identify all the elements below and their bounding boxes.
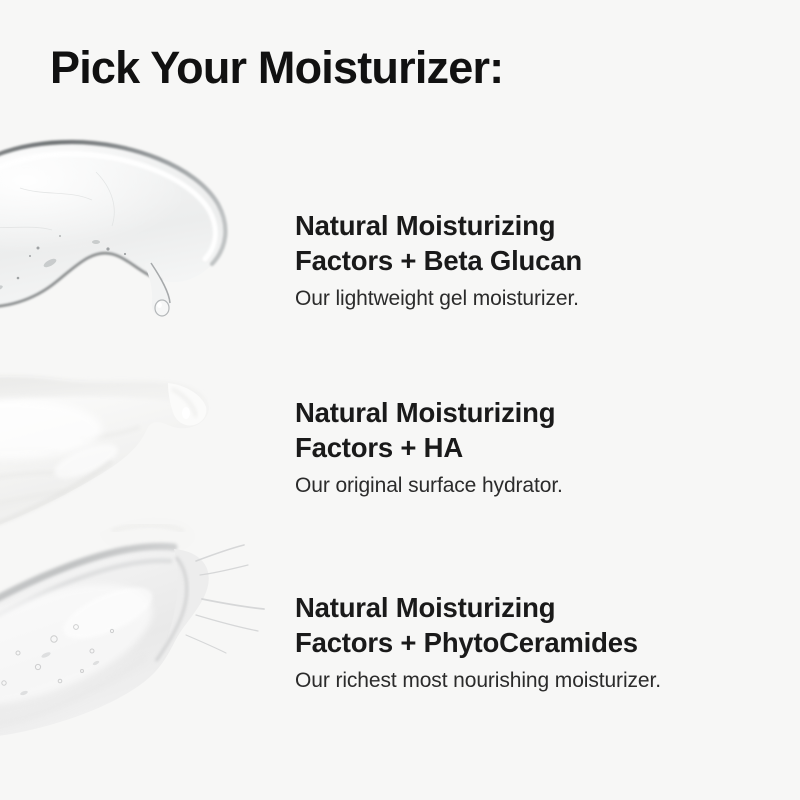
product-title-line1: Natural Moisturizing bbox=[295, 397, 555, 428]
product-subtitle: Our richest most nourishing moisturizer. bbox=[295, 666, 765, 696]
product-title: Natural Moisturizing Factors + PhytoCera… bbox=[295, 590, 765, 660]
product-subtitle: Our lightweight gel moisturizer. bbox=[295, 284, 765, 314]
page-title: Pick Your Moisturizer: bbox=[50, 40, 503, 96]
product-row[interactable]: Natural Moisturizing Factors + HA Our or… bbox=[0, 355, 800, 545]
product-title-line1: Natural Moisturizing bbox=[295, 592, 555, 623]
product-title-line2: Factors + HA bbox=[295, 432, 463, 463]
product-text-block: Natural Moisturizing Factors + Beta Gluc… bbox=[295, 208, 765, 314]
product-row[interactable]: Natural Moisturizing Factors + Beta Gluc… bbox=[0, 130, 800, 320]
moisturizer-comparison-page: Pick Your Moisturizer: bbox=[0, 0, 800, 800]
product-text-block: Natural Moisturizing Factors + HA Our or… bbox=[295, 395, 765, 501]
product-text-block: Natural Moisturizing Factors + PhytoCera… bbox=[295, 590, 765, 696]
product-subtitle: Our original surface hydrator. bbox=[295, 471, 765, 501]
product-row[interactable]: Natural Moisturizing Factors + PhytoCera… bbox=[0, 535, 800, 750]
clear-gel-swatch bbox=[0, 130, 275, 320]
white-cream-swatch bbox=[0, 355, 275, 545]
product-title: Natural Moisturizing Factors + HA bbox=[295, 395, 765, 465]
rich-cream-swatch bbox=[0, 535, 275, 750]
product-title-line1: Natural Moisturizing bbox=[295, 210, 555, 241]
product-title-line2: Factors + PhytoCeramides bbox=[295, 627, 638, 658]
product-title-line2: Factors + Beta Glucan bbox=[295, 245, 582, 276]
product-title: Natural Moisturizing Factors + Beta Gluc… bbox=[295, 208, 765, 278]
